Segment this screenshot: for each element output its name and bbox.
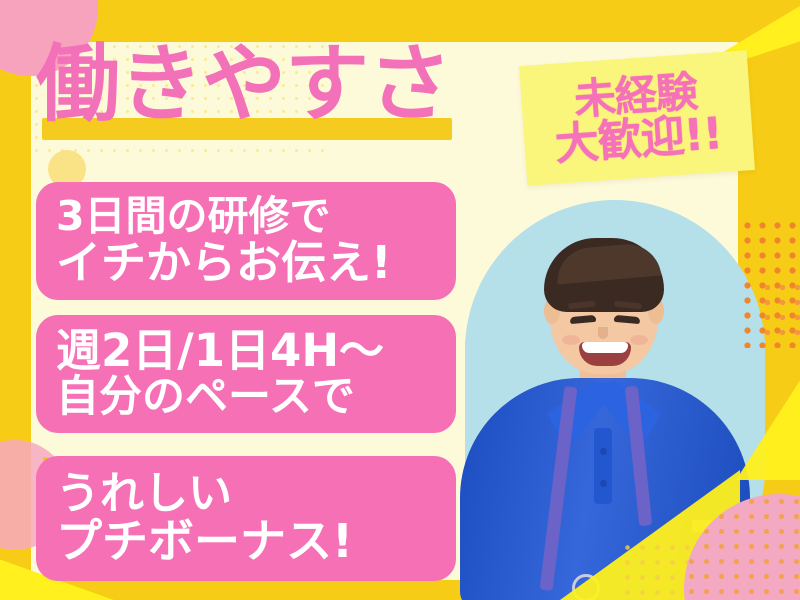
- smiling-mouth: [579, 342, 631, 366]
- job-ad-poster: 働きやすさ 未経験 大歓迎!! 3日間の研修で イチからお伝え! 週2日/1日4…: [0, 0, 800, 600]
- benefit-schedule-line-2: 自分のペースで: [56, 375, 436, 421]
- experience-welcome-badge: 未経験 大歓迎!!: [519, 50, 755, 186]
- nose-shape: [598, 327, 608, 339]
- right-dot-grid-secondary: [760, 280, 800, 336]
- cheek-left: [562, 335, 580, 345]
- shirt-button-top: [600, 448, 607, 455]
- benefit-box-schedule: 週2日/1日4H〜 自分のペースで: [36, 315, 456, 433]
- cheek-right: [630, 335, 648, 345]
- benefit-training-line-2: イチからお伝え!: [56, 239, 436, 287]
- badge-text-group: 未経験 大歓迎!!: [519, 50, 755, 186]
- shirt-placket: [594, 428, 612, 504]
- benefit-bonus-line-2: プチボーナス!: [56, 517, 436, 566]
- benefit-training-line-1: 3日間の研修で: [56, 195, 436, 238]
- benefit-box-training: 3日間の研修で イチからお伝え!: [36, 182, 456, 300]
- benefit-box-bonus: うれしい プチボーナス!: [36, 456, 456, 581]
- teeth: [582, 342, 628, 353]
- shirt-button-bottom: [600, 480, 607, 487]
- benefit-bonus-line-1: うれしい: [56, 471, 436, 518]
- benefit-schedule-line-1: 週2日/1日4H〜: [56, 327, 436, 375]
- page-title: 働きやすさ: [36, 42, 466, 126]
- badge-line-2: 大歓迎!!: [554, 112, 724, 167]
